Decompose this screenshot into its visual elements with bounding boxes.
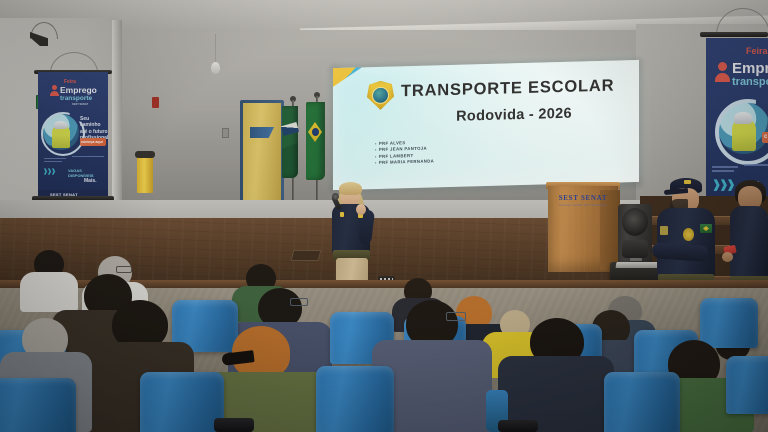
chevron-right-icon: ❱❱❱ [712,178,734,191]
presenter-badge-icon-2 [340,212,344,217]
eyeglasses-icon [446,312,466,321]
officer-cap-badge-icon [684,180,691,184]
banner-right-top-bar [700,32,768,37]
podium-sublabel: serviço social do transporte [554,203,612,207]
brazil-flag-patch-icon [700,224,712,233]
microphone-head-icon [332,193,339,200]
banner-left-rule-2 [44,161,62,162]
banner-right-cta-label: c [764,134,767,140]
wall-socket [222,128,229,138]
banner-right-rule [712,166,738,168]
officer2-jacket [730,206,768,280]
auditorium-seat[interactable] [316,366,394,432]
mobile-phone[interactable] [214,418,254,432]
speaker-woofer [622,240,648,258]
banner-left-cta-label: começa aqui [81,140,103,144]
state-flag [282,106,298,178]
person-icon [52,85,57,90]
banner-left-line3: transporte [60,95,92,102]
banner-left-rule [44,158,66,159]
slide-bullet-list: PRF ALVES PRF JEAN PANTOJA PRF LAMBERT P… [375,139,434,166]
brazil-flag-globe [312,128,319,136]
auditorium-seat[interactable] [140,372,224,432]
trash-bin-lid [135,151,155,158]
person-icon-body [715,73,730,82]
presenter-hand [356,204,366,215]
attendee-body [20,272,78,312]
trash-bin [137,155,153,193]
banner-right-line3: transporte [732,76,768,88]
banner-left-mark: Mais. [84,178,97,184]
officer-shoulder-patch-icon [660,226,668,235]
banner-right-line1: Feira [746,46,768,56]
auditorium-seat[interactable] [726,356,768,414]
auditorium-scene: TRANSPORTE ESCOLAR Rodovida - 2026 PRF A… [0,0,768,432]
officer-chest-badge-icon [683,228,694,241]
podium-side-panel [600,190,620,270]
mobile-phone[interactable] [498,420,538,432]
eyeglasses-icon [290,298,308,306]
hanging-bulb-icon [211,62,220,74]
officer2-hand [722,252,733,262]
hanging-cable [215,34,216,64]
auditorium-seat[interactable] [700,298,758,348]
person-icon [718,62,727,71]
chevron-right-icon: ❱❱❱ [43,168,55,175]
banner-left-photo-ring [41,112,85,156]
fire-alarm-icon [152,97,159,108]
banner-left-rule-3 [72,156,104,157]
banner-right-rule-2 [712,170,734,172]
banner-right-line2: Emprego [732,60,768,77]
auditorium-seat[interactable] [604,372,680,432]
podium-label: SEST SENAT [554,194,612,202]
banner-left: Feira Emprego transporte SEST SENAT Seu … [38,72,108,198]
speaker-cone [622,208,648,236]
banner-left-line4: SEST SENAT [72,103,88,106]
projection-screen: TRANSPORTE ESCOLAR Rodovida - 2026 PRF A… [333,60,639,190]
banner-left-sub: VAGAS DISPONÍVEIS [68,168,108,178]
speaker-badge [630,258,642,261]
banner-right-rule-3 [744,164,768,166]
eyeglasses-icon [116,266,132,273]
auditorium-seat[interactable] [0,378,76,432]
banner-left-line2: Emprego [60,85,97,95]
person-icon-body [50,91,59,96]
presenter-hair-top [339,182,362,195]
floor-outlet-plate [291,250,322,261]
